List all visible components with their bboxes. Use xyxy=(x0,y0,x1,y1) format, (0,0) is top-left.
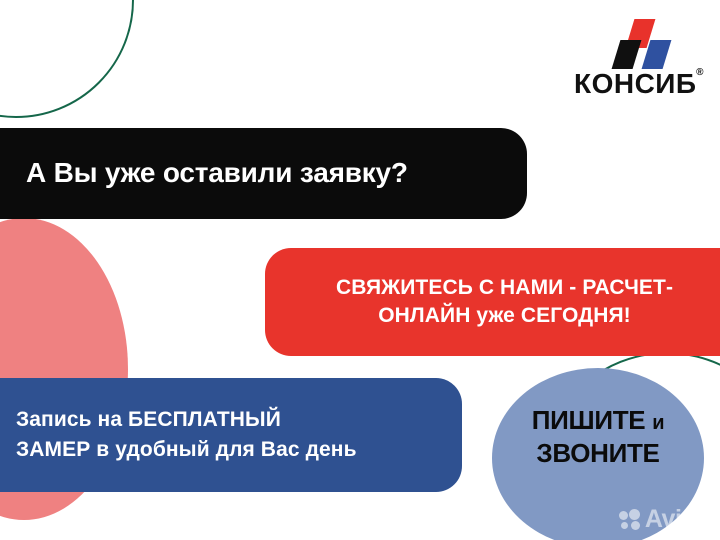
question-banner: А Вы уже оставили заявку? xyxy=(0,128,527,219)
call-to-action-text: ПИШИТЕ и ЗВОНИТЕ xyxy=(492,404,704,469)
logo-wordmark-text: КОНСИБ xyxy=(574,68,697,99)
question-text: А Вы уже оставили заявку? xyxy=(26,157,408,189)
cta-line-1: ПИШИТЕ и xyxy=(492,404,704,437)
contact-text: СВЯЖИТЕСЬ С НАМИ - РАСЧЕТ- ОНЛАЙН уже СЕ… xyxy=(336,274,673,331)
contact-banner: СВЯЖИТЕСЬ С НАМИ - РАСЧЕТ- ОНЛАЙН уже СЕ… xyxy=(265,248,720,356)
brand-logo: КОНСИБ ® xyxy=(574,18,704,98)
promo-banner: КОНСИБ ® А Вы уже оставили заявку? СВЯЖИ… xyxy=(0,0,720,540)
cta-write-label: ПИШИТЕ xyxy=(532,405,646,435)
measurement-text: Запись на БЕСПЛАТНЫЙ ЗАМЕР в удобный для… xyxy=(16,405,357,466)
contact-text-line-2: ОНЛАЙН уже СЕГОДНЯ! xyxy=(378,304,631,327)
contact-text-line-1: СВЯЖИТЕСЬ С НАМИ - РАСЧЕТ- xyxy=(336,276,673,299)
measurement-text-line-2: ЗАМЕР в удобный для Вас день xyxy=(16,438,357,461)
logo-wordmark: КОНСИБ ® xyxy=(574,70,704,98)
cta-call-label: ЗВОНИТЕ xyxy=(492,437,704,470)
measurement-text-line-1: Запись на БЕСПЛАТНЫЙ xyxy=(16,408,281,431)
logo-mark-group xyxy=(574,18,704,70)
registered-trademark-icon: ® xyxy=(696,68,704,78)
logo-black-tile-icon xyxy=(612,40,642,69)
green-ring-decoration-top xyxy=(0,0,134,118)
cta-conjunction: и xyxy=(652,412,664,434)
free-measurement-banner: Запись на БЕСПЛАТНЫЙ ЗАМЕР в удобный для… xyxy=(0,378,462,492)
